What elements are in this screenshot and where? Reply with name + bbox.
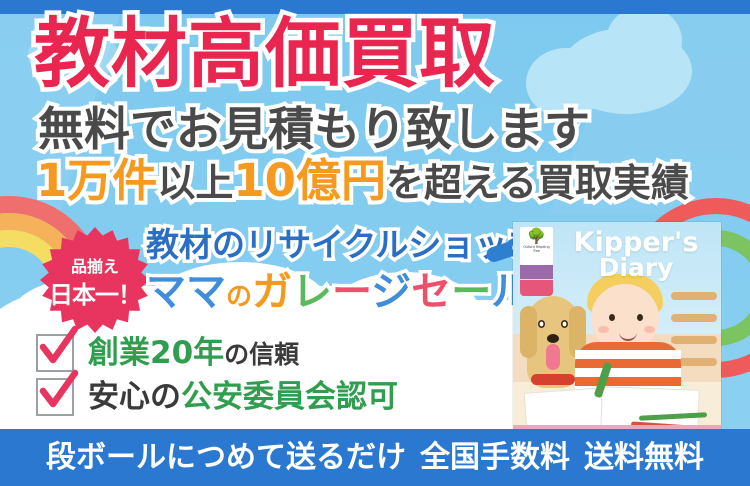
shop-name-char-5: ー — [332, 269, 371, 315]
shop-name-logo: ママのガレージセール — [146, 272, 531, 312]
logo-caption: Oxford Reading Tree — [520, 245, 553, 254]
tree-icon: 🌳 — [527, 229, 546, 244]
checklist-item-2: 安心の公安委員会認可 — [36, 378, 398, 416]
headline-secondary: 無料でお見積もり致します — [38, 106, 590, 152]
headline-tail-text: を超える買取実績 — [386, 161, 689, 205]
shop-name-char-6: ジ — [371, 269, 411, 315]
bottom-text-part1: 段ボールにつめて送るだけ — [46, 440, 406, 475]
badge-line-one: 品揃え — [40, 253, 150, 277]
checklist-2-highlight: 公安委員会認可 — [181, 379, 398, 415]
boy-cheek-right — [644, 326, 655, 333]
checklist-2-prefix: 安心の — [88, 379, 181, 415]
checkmark-icon — [33, 323, 79, 369]
book-cover-image: 🌳 Oxford Reading Tree Kipper's Diary Ser… — [513, 222, 721, 440]
shop-name-char-2: の — [226, 282, 252, 312]
shop-name-char-7: セ — [411, 269, 451, 315]
badge-line-two: 日本一！ — [40, 275, 150, 310]
checklist-1-rest: の信頼 — [224, 340, 299, 369]
shop-name-char-1: マ — [186, 269, 226, 315]
book-title-line2: Diary — [561, 256, 711, 281]
shop-name-char-4: レ — [292, 269, 332, 315]
dog-illustration — [527, 296, 579, 388]
checklist-text-1: 創業20年の信頼 — [88, 338, 299, 369]
bottom-text-part2: 全国手数料 — [420, 440, 570, 475]
boy-eye-left — [609, 314, 615, 321]
boy-cheek-left — [598, 326, 609, 333]
bottom-bar-text: 段ボールにつめて送るだけ全国手数料送料無料 — [46, 443, 704, 473]
shop-tagline: 教材のリサイクルショップ — [146, 228, 540, 261]
book-title: Kipper's Diary — [561, 230, 711, 281]
shop-name-char-8: ー — [451, 269, 491, 315]
promo-banner: 教材高価買取 無料でお見積もり致します 1万件以上10億円を超える買取実績 品揃… — [0, 0, 750, 486]
bottom-cta-bar: 段ボールにつめて送るだけ全国手数料送料無料 — [0, 429, 750, 486]
headline-middle-word: 以上 — [157, 161, 233, 205]
headline-tertiary: 1万件以上10億円を超える買取実績 — [36, 158, 689, 203]
shop-name-char-0: マ — [146, 269, 186, 315]
bottom-text-part3: 送料無料 — [584, 440, 704, 475]
headline-amount-count: 1万件 — [36, 154, 157, 207]
starburst-badge: 品揃え 日本一！ — [40, 227, 150, 333]
logo-band-pink — [520, 280, 553, 296]
checkmark-icon — [33, 367, 79, 413]
logo-band-purple — [520, 265, 553, 279]
headline-amount-yen: 10億円 — [233, 154, 386, 207]
oxford-reading-tree-logo-icon: 🌳 Oxford Reading Tree — [520, 227, 553, 265]
checkbox-icon — [36, 378, 74, 416]
boy-eye-right — [637, 314, 643, 321]
checklist-text-2: 安心の公安委員会認可 — [88, 382, 398, 413]
shop-name-char-3: ガ — [252, 269, 292, 315]
headline-primary: 教材高価買取 — [34, 16, 496, 92]
checklist-1-highlight: 創業20年 — [88, 335, 224, 371]
